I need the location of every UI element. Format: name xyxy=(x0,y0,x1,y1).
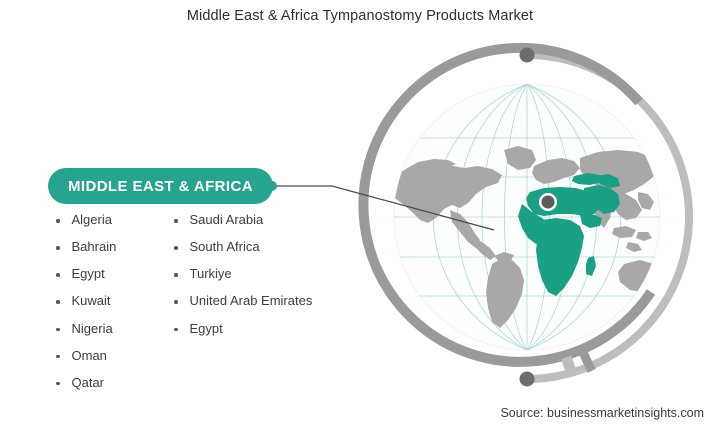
country-label: Oman xyxy=(72,348,107,365)
bullet-icon xyxy=(174,300,178,304)
bullet-icon xyxy=(174,273,178,277)
country-label: Kuwait xyxy=(72,293,111,310)
country-label: Algeria xyxy=(72,212,112,229)
country-label: Nigeria xyxy=(72,321,113,338)
country-column-1: Algeria Bahrain Egypt Kuwait Nigeria Oma… xyxy=(56,212,164,402)
list-item[interactable]: Turkiye xyxy=(174,266,324,283)
list-item[interactable]: Egypt xyxy=(174,321,324,338)
page-title: Middle East & Africa Tympanostomy Produc… xyxy=(0,8,720,24)
list-item[interactable]: Saudi Arabia xyxy=(174,212,324,229)
list-item[interactable]: Oman xyxy=(56,348,164,365)
country-label: Qatar xyxy=(72,375,105,392)
bullet-icon xyxy=(56,246,60,250)
country-label: Turkiye xyxy=(190,266,232,283)
list-item[interactable]: Egypt xyxy=(56,266,164,283)
bullet-icon xyxy=(174,328,178,332)
list-item[interactable]: United Arab Emirates xyxy=(174,293,324,310)
list-item[interactable]: Nigeria xyxy=(56,321,164,338)
country-label: Egypt xyxy=(72,266,105,283)
country-label: Bahrain xyxy=(72,239,117,256)
location-marker-icon xyxy=(539,193,557,211)
bullet-icon xyxy=(56,382,60,386)
bullet-icon xyxy=(174,219,178,223)
region-badge-label: MIDDLE EAST & AFRICA xyxy=(68,178,253,195)
globe-ring-cap-bottom xyxy=(520,372,535,387)
list-item[interactable]: Algeria xyxy=(56,212,164,229)
list-item[interactable]: South Africa xyxy=(174,239,324,256)
region-badge[interactable]: MIDDLE EAST & AFRICA xyxy=(48,168,273,204)
country-list: Algeria Bahrain Egypt Kuwait Nigeria Oma… xyxy=(56,212,336,402)
list-item[interactable]: Bahrain xyxy=(56,239,164,256)
chart-canvas: Middle East & Africa Tympanostomy Produc… xyxy=(0,0,720,430)
country-label: Saudi Arabia xyxy=(190,212,264,229)
country-label: United Arab Emirates xyxy=(190,293,313,310)
source-attribution: Source: businessmarketinsights.com xyxy=(500,406,704,420)
country-column-2: Saudi Arabia South Africa Turkiye United… xyxy=(174,212,324,402)
list-item[interactable]: Kuwait xyxy=(56,293,164,310)
bullet-icon xyxy=(174,246,178,250)
bullet-icon xyxy=(56,328,60,332)
bullet-icon xyxy=(56,219,60,223)
bullet-icon xyxy=(56,355,60,359)
list-item[interactable]: Qatar xyxy=(56,375,164,392)
globe-graphic xyxy=(352,42,702,392)
country-label: South Africa xyxy=(190,239,260,256)
globe-ring-cap-top xyxy=(520,48,535,63)
bullet-icon xyxy=(56,300,60,304)
bullet-icon xyxy=(56,273,60,277)
country-label: Egypt xyxy=(190,321,223,338)
